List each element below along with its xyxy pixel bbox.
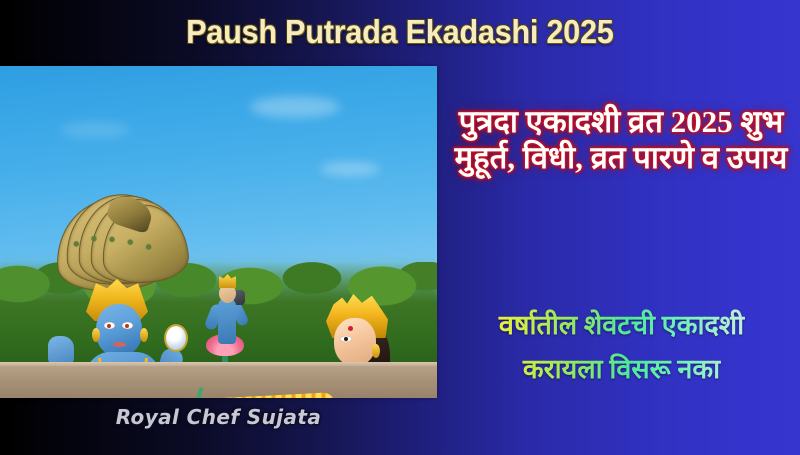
vishnu-pupil-right [125, 324, 129, 328]
cloud-icon [60, 122, 130, 138]
deity-statue-photo [0, 66, 437, 398]
subheadline-text: वर्षातील शेवटची एकादशी करायला विसरू नका [443, 303, 800, 391]
watermark: Royal Chef Sujata [0, 405, 437, 429]
headline-text: पुत्रदा एकादशी व्रत 2025 शुभ मुहूर्त, वि… [447, 104, 795, 176]
title-bar: Paush Putrada Ekadashi 2025 [0, 0, 800, 64]
lakshmi-head [334, 318, 376, 366]
vishnu-mouth [113, 342, 126, 347]
lakshmi-pupil [344, 337, 348, 341]
cloud-icon [250, 96, 340, 118]
bindi-icon [348, 326, 353, 331]
vishnu-earring-left [92, 328, 100, 342]
sudarshana-chakra-icon [164, 324, 188, 352]
vishnu-earring-right [140, 328, 148, 342]
page-title: Paush Putrada Ekadashi 2025 [186, 13, 613, 51]
vishnu-pupil-left [107, 324, 111, 328]
cloud-icon [320, 162, 380, 176]
standing-deity-body [218, 298, 236, 344]
poster-canvas: Paush Putrada Ekadashi 2025 [0, 0, 800, 455]
subheadline-line-2: करायला विसरू नका [443, 347, 800, 391]
vishnu-head [96, 304, 142, 356]
lakshmi-earring [372, 344, 380, 358]
subheadline-line-1: वर्षातील शेवटची एकादशी [443, 303, 800, 347]
